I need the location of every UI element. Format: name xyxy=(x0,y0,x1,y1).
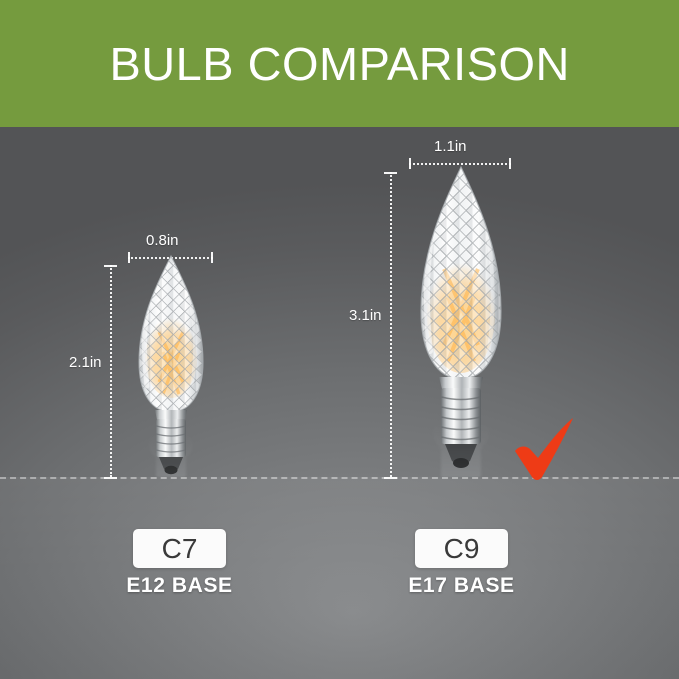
c7-width-tick-right xyxy=(211,252,213,263)
c9-width-tick-left xyxy=(409,158,411,169)
c9-height-tick-bottom xyxy=(384,477,397,479)
c7-height-tick-bottom xyxy=(104,477,117,479)
c7-width-label: 0.8in xyxy=(146,232,179,249)
c7-chip-label: C7 xyxy=(162,533,198,565)
c9-base-label: E17 BASE xyxy=(395,574,528,598)
c9-height-label: 3.1in xyxy=(349,307,382,324)
comparison-scene: 0.8in 2.1in 1.1in 3.1in xyxy=(0,127,679,679)
c7-bulb-image xyxy=(133,254,209,478)
c7-height-dimension-line xyxy=(110,265,112,477)
c9-height-dimension-line xyxy=(390,172,392,477)
c9-bulb-image xyxy=(414,165,508,481)
c7-chip: C7 xyxy=(133,529,226,568)
floor-plane xyxy=(0,477,679,679)
c7-base-label: E12 BASE xyxy=(113,574,246,598)
bulb-comparison-graphic: BULB COMPARISON 0.8in 2.1in 1.1in 3.1in xyxy=(0,0,679,679)
c7-width-tick-left xyxy=(128,252,130,263)
c9-height-tick-top xyxy=(384,172,397,174)
c9-width-tick-right xyxy=(509,158,511,169)
c9-width-label: 1.1in xyxy=(434,138,467,155)
red-check-icon xyxy=(511,415,579,490)
c7-height-label: 2.1in xyxy=(69,354,102,371)
c9-chip: C9 xyxy=(415,529,508,568)
header-banner: BULB COMPARISON xyxy=(0,0,679,127)
c7-height-tick-top xyxy=(104,265,117,267)
c9-chip-label: C9 xyxy=(444,533,480,565)
page-title: BULB COMPARISON xyxy=(109,37,569,91)
